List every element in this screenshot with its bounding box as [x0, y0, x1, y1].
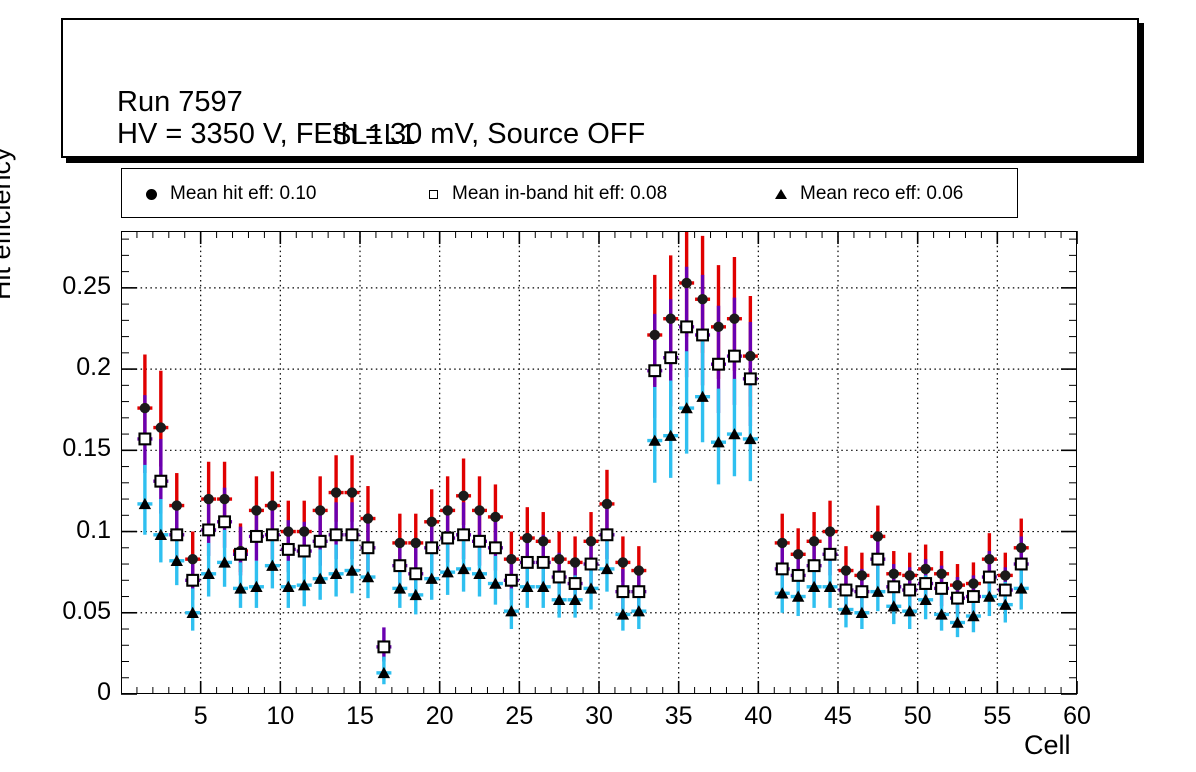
x-tick-label: 35 [663, 702, 695, 731]
y-tick-label: 0.05 [3, 597, 111, 626]
y-tick-label: 0 [3, 678, 111, 707]
x-tick-label: 45 [822, 702, 854, 731]
x-tick-label: 30 [583, 702, 615, 731]
x-tick-label: 25 [503, 702, 535, 731]
y-tick-label: 0.2 [3, 353, 111, 382]
x-tick-label: 40 [742, 702, 774, 731]
x-tick-label: 20 [424, 702, 456, 731]
plot-frame [121, 231, 1077, 694]
x-tick-label: 15 [344, 702, 376, 731]
x-tick-label: 60 [1061, 702, 1093, 731]
x-tick-label: 10 [264, 702, 296, 731]
x-tick-label: 50 [902, 702, 934, 731]
x-axis-title: Cell [1024, 730, 1071, 761]
x-tick-label: 55 [981, 702, 1013, 731]
y-tick-label: 0.25 [3, 272, 111, 301]
x-tick-label: 5 [185, 702, 217, 731]
y-tick-label: 0.1 [3, 516, 111, 545]
y-tick-label: 0.15 [3, 434, 111, 463]
plot-canvas: Run 7597 SL1L1 HV = 3350 V, FEth = 30 mV… [0, 0, 1196, 772]
